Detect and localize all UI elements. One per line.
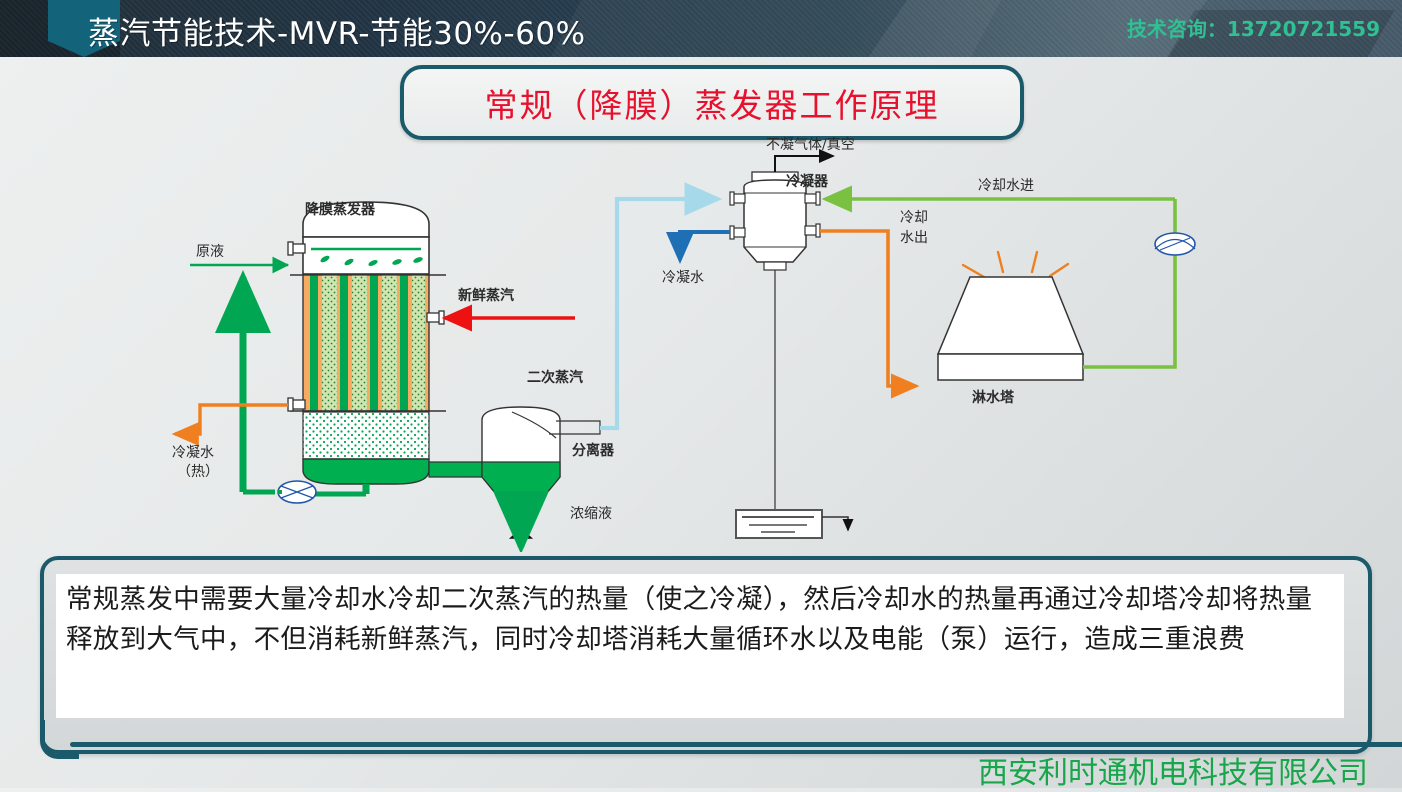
label-cooling-water-out: 冷却 <box>900 210 928 226</box>
valve-icon <box>511 520 531 538</box>
label-condenser: 冷凝器 <box>786 173 829 190</box>
label-concentrate: 浓缩液 <box>570 506 612 522</box>
footer-divider <box>70 742 1402 747</box>
svg-text:降膜蒸发器: 降膜蒸发器 <box>305 201 376 218</box>
fresh-steam-line: 新鲜蒸汽 <box>445 287 575 318</box>
process-flow-diagram: 降膜蒸发器 原液 冷凝水 （热） 新鲜蒸汽 <box>0 132 1402 552</box>
separator: 分离器 浓缩液 <box>429 407 615 547</box>
condensate-hot-line: 冷凝水 （热） <box>172 405 288 480</box>
description-card: 常规蒸发中需要大量冷却水冷却二次蒸汽的热量（使之冷凝），然后冷却水的热量再通过冷… <box>40 556 1372 754</box>
feed-line: 原液 <box>190 244 288 265</box>
svg-text:（热）: （热） <box>177 464 219 480</box>
label-condensate-hot: 冷凝水 <box>172 445 214 461</box>
label-evaporator: 降膜蒸发器 <box>305 201 376 218</box>
page-title: 蒸汽节能技术-MVR-节能30%-60% <box>88 8 586 53</box>
label-condensate: 冷凝水 <box>662 270 704 286</box>
hotwell-tank <box>736 510 848 538</box>
cooling-tower: 淋水塔 <box>938 252 1083 406</box>
footer-company-name: 西安利时通机电科技有限公司 <box>978 748 1368 792</box>
falling-film-evaporator: 降膜蒸发器 <box>288 201 446 484</box>
slide-header: 蒸汽节能技术-MVR-节能30%-60% 技术咨询：13720721559 <box>0 0 1402 57</box>
label-secondary-steam: 二次蒸汽 <box>527 369 583 386</box>
label-fresh-steam: 新鲜蒸汽 <box>458 287 514 304</box>
condenser-condensate-line: 冷凝水 <box>662 232 730 286</box>
diagram-title-text: 常规（降膜）蒸发器工作原理 <box>485 79 940 127</box>
description-text: 常规蒸发中需要大量冷却水冷却二次蒸汽的热量（使之冷凝），然后冷却水的热量再通过冷… <box>66 580 1334 660</box>
cooling-return-loop <box>1083 199 1195 367</box>
label-feed: 原液 <box>196 244 224 260</box>
label-cooling-tower: 淋水塔 <box>972 389 1015 406</box>
description-inner: 常规蒸发中需要大量冷却水冷却二次蒸汽的热量（使之冷凝），然后冷却水的热量再通过冷… <box>56 574 1344 718</box>
svg-text:水出: 水出 <box>900 230 928 246</box>
cooling-water-out-line: 冷却 水出 <box>820 210 928 386</box>
contact-phone: 技术咨询：13720721559 <box>1127 13 1380 42</box>
label-noncondensable: 不凝气体/真空 <box>766 137 855 153</box>
recirculation-riser <box>243 277 275 492</box>
label-cooling-water-in: 冷却水进 <box>978 178 1034 194</box>
cooling-water-in-line: 冷却水进 <box>825 178 1175 199</box>
label-separator: 分离器 <box>572 442 615 459</box>
diagram-title-card: 常规（降膜）蒸发器工作原理 <box>400 65 1024 140</box>
condenser: 不凝气体/真空 冷凝器 <box>730 137 855 532</box>
